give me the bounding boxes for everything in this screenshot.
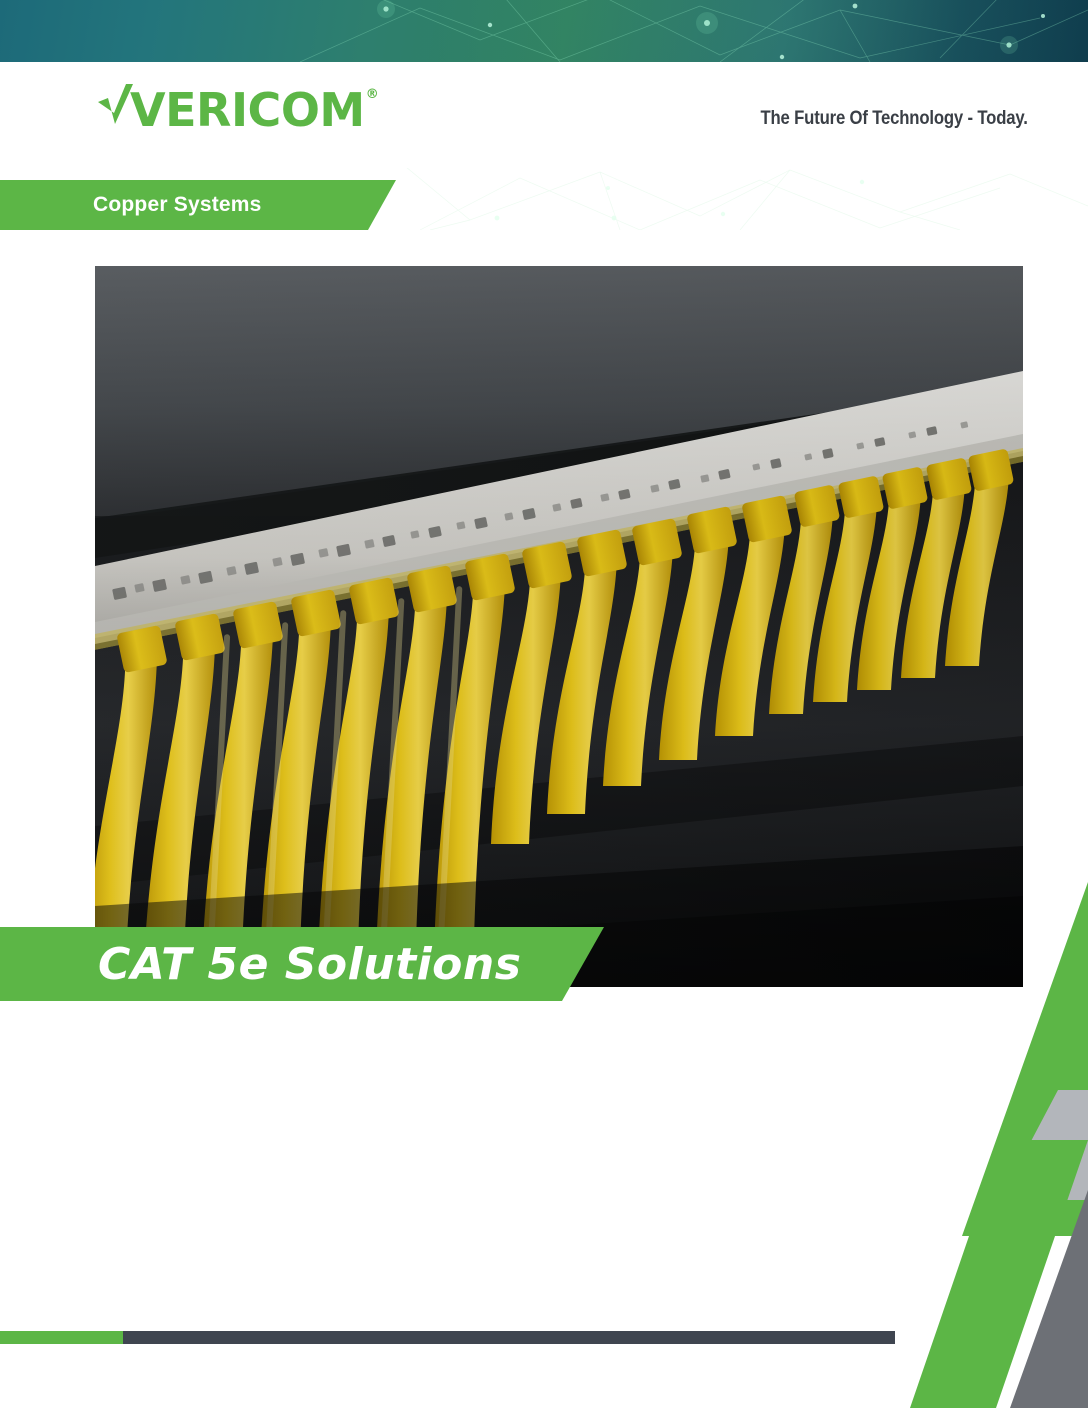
patch-panel-illustration bbox=[95, 266, 1023, 987]
brand-tagline: The Future Of Technology - Today. bbox=[761, 108, 1028, 130]
footer-rule bbox=[0, 1331, 1088, 1344]
document-page: VERICOM ® The Future Of Technology - Tod… bbox=[0, 0, 1088, 1408]
page-title-banner: CAT 5e Solutions bbox=[0, 927, 604, 1001]
top-gradient-band bbox=[0, 0, 1088, 62]
logo-wordmark: VERICOM bbox=[130, 84, 365, 136]
footer-rule-dark-segment bbox=[123, 1331, 895, 1344]
header-strip: VERICOM ® The Future Of Technology - Tod… bbox=[0, 62, 1088, 168]
vericom-logo[interactable]: VERICOM ® bbox=[96, 84, 379, 140]
footer-rule-green-segment bbox=[0, 1331, 127, 1344]
hero-image-patch-panel bbox=[95, 266, 1023, 987]
page-title: CAT 5e Solutions bbox=[98, 939, 521, 990]
network-graphic-top bbox=[0, 0, 1088, 62]
category-tab-copper-systems[interactable]: Copper Systems bbox=[0, 180, 396, 230]
checkmark-icon bbox=[96, 84, 136, 140]
registered-trademark-icon: ® bbox=[366, 84, 379, 106]
category-tab-label: Copper Systems bbox=[93, 193, 262, 217]
